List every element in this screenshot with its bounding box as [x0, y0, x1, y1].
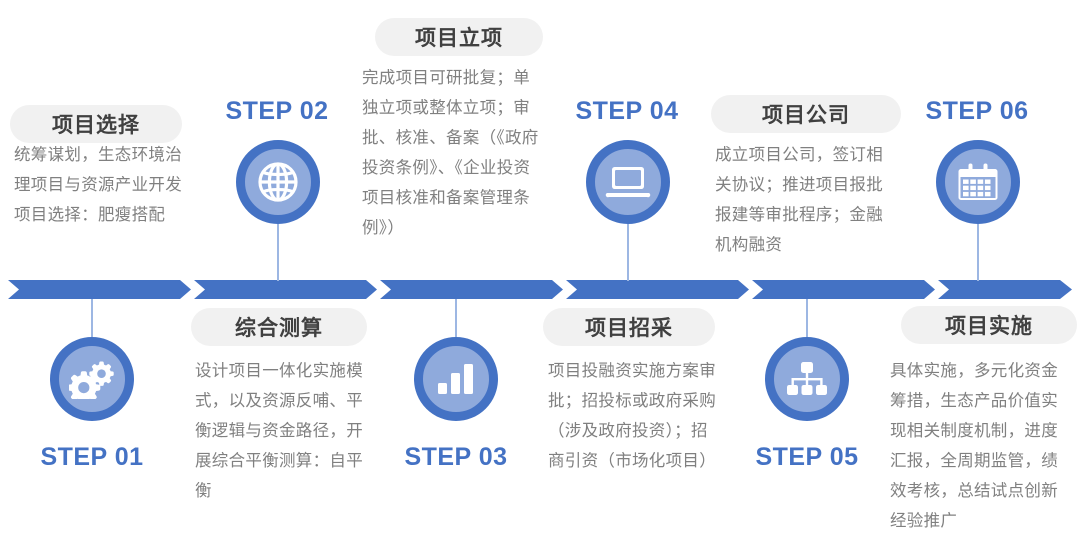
step-label-04: STEP 04 — [557, 97, 697, 126]
heading-text: 项目立项 — [415, 22, 503, 52]
step-circle-06[interactable] — [936, 140, 1020, 224]
arrow-segment-4 — [566, 280, 749, 299]
connector-stem-5 — [806, 299, 808, 337]
arrow-segment-2 — [194, 280, 377, 299]
connector-stem-3 — [455, 299, 457, 337]
hierarchy-icon — [786, 360, 828, 398]
body-text-step-02: 设计项目一体化实施模式，以及资源反哺、平衡逻辑与资金路径，开展综合平衡测算：自平… — [195, 356, 367, 506]
heading-text: 项目公司 — [762, 99, 850, 129]
body-text-step-05: 成立项目公司，签订相关协议；推进项目报批报建等审批程序；金融机构融资 — [715, 140, 895, 260]
heading-text: 项目选择 — [52, 109, 140, 139]
body-text-step-06: 具体实施，多元化资金筹措，生态产品价值实现相关制度机制，进度汇报，全周期监管，绩… — [890, 356, 1070, 536]
arrow-segment-5 — [752, 280, 935, 299]
globe-icon — [256, 160, 300, 204]
connector-stem-2 — [277, 224, 279, 281]
step-circle-01[interactable] — [50, 337, 134, 421]
laptop-icon — [605, 164, 651, 200]
arrow-segment-6 — [938, 280, 1072, 299]
heading-pill-step-02: 综合测算 — [191, 308, 367, 346]
heading-text: 综合测算 — [235, 312, 323, 342]
step-circle-05[interactable] — [765, 337, 849, 421]
step-circle-02[interactable] — [236, 140, 320, 224]
timeline-infographic: 项目选择 统筹谋划，生态环境治理项目与资源产业开发项目选择：肥瘦搭配 STEP … — [0, 0, 1080, 552]
calendar-icon — [958, 162, 998, 202]
body-text-step-04: 项目投融资实施方案审批；招投标或政府采购（涉及政府投资）；招商引资（市场化项目） — [548, 356, 724, 476]
body-text-step-03: 完成项目可研批复；单独立项或整体立项；审批、核准、备案（《政府投资条例》、《企业… — [362, 63, 540, 243]
bar-chart-icon — [436, 362, 476, 396]
connector-stem-4 — [627, 224, 629, 281]
arrow-segment-3 — [380, 280, 563, 299]
step-label-06: STEP 06 — [907, 97, 1047, 126]
body-text-step-01: 统筹谋划，生态环境治理项目与资源产业开发项目选择：肥瘦搭配 — [14, 140, 182, 230]
heading-pill-step-05: 项目公司 — [711, 95, 901, 133]
step-circle-03[interactable] — [414, 337, 498, 421]
connector-stem-6 — [977, 224, 979, 281]
step-label-01: STEP 01 — [22, 443, 162, 472]
step-circle-04[interactable] — [586, 140, 670, 224]
heading-text: 项目实施 — [945, 310, 1033, 340]
heading-pill-step-04: 项目招采 — [543, 308, 715, 346]
connector-stem-1 — [91, 299, 93, 337]
step-label-05: STEP 05 — [737, 443, 877, 472]
heading-pill-step-06: 项目实施 — [901, 306, 1077, 344]
gears-icon — [69, 359, 115, 399]
step-label-03: STEP 03 — [386, 443, 526, 472]
step-label-02: STEP 02 — [207, 97, 347, 126]
arrow-segment-1 — [8, 280, 191, 299]
heading-text: 项目招采 — [585, 312, 673, 342]
heading-pill-step-01: 项目选择 — [10, 105, 182, 143]
timeline-arrow-band — [0, 280, 1080, 299]
heading-pill-step-03: 项目立项 — [375, 18, 543, 56]
